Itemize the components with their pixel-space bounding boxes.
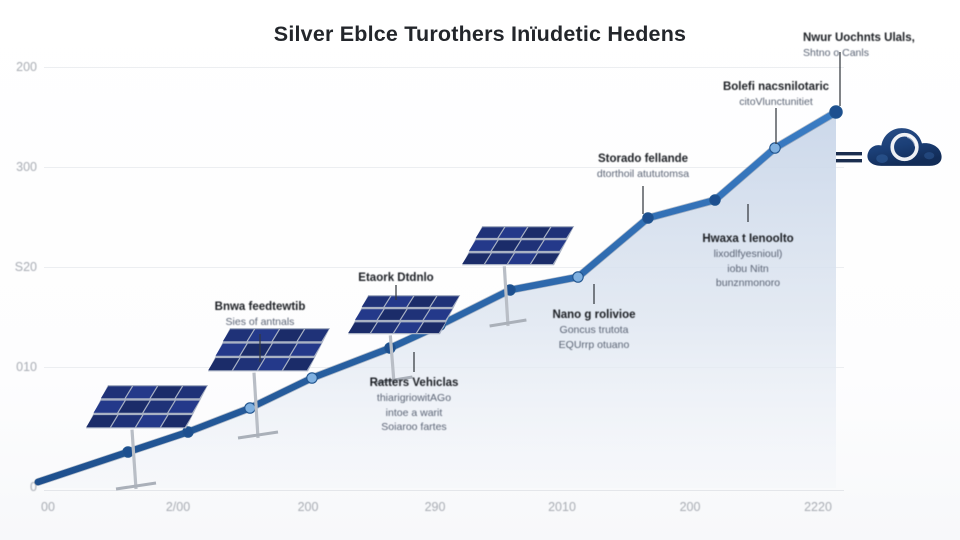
- y-axis-tick-label: S20: [15, 260, 37, 274]
- gridline: [44, 67, 844, 68]
- x-axis-tick-label: 200: [680, 500, 701, 514]
- gridline: [44, 167, 844, 168]
- gridline: [44, 267, 844, 268]
- x-axis-tick-label: 200: [298, 500, 319, 514]
- solar-panel-icon: [208, 328, 334, 453]
- y-axis-tick-label: 010: [16, 360, 37, 374]
- x-axis-tick-label: 00: [41, 500, 55, 514]
- y-axis-tick-label: 300: [16, 160, 37, 174]
- solar-panel-icon: [348, 295, 466, 398]
- solar-panel-icon: [86, 385, 212, 504]
- chart-canvas: Silver Eblce Turothers Inïudetic Hedens …: [0, 0, 960, 540]
- y-axis-tick-label: 0: [30, 480, 37, 494]
- y-axis: 200300S200100: [0, 0, 44, 540]
- solar-panel-icon: [462, 226, 580, 341]
- y-axis-tick-label: 200: [16, 60, 37, 74]
- x-axis-tick-label: 2220: [804, 500, 832, 514]
- equals-sign: [836, 150, 862, 171]
- page-title: Silver Eblce Turothers Inïudetic Hedens: [0, 22, 960, 47]
- x-axis-tick-label: 2010: [548, 500, 576, 514]
- cloud-icon: [862, 118, 950, 181]
- x-axis-tick-label: 290: [425, 500, 446, 514]
- annotation-line: Shtno o Canls: [803, 46, 915, 60]
